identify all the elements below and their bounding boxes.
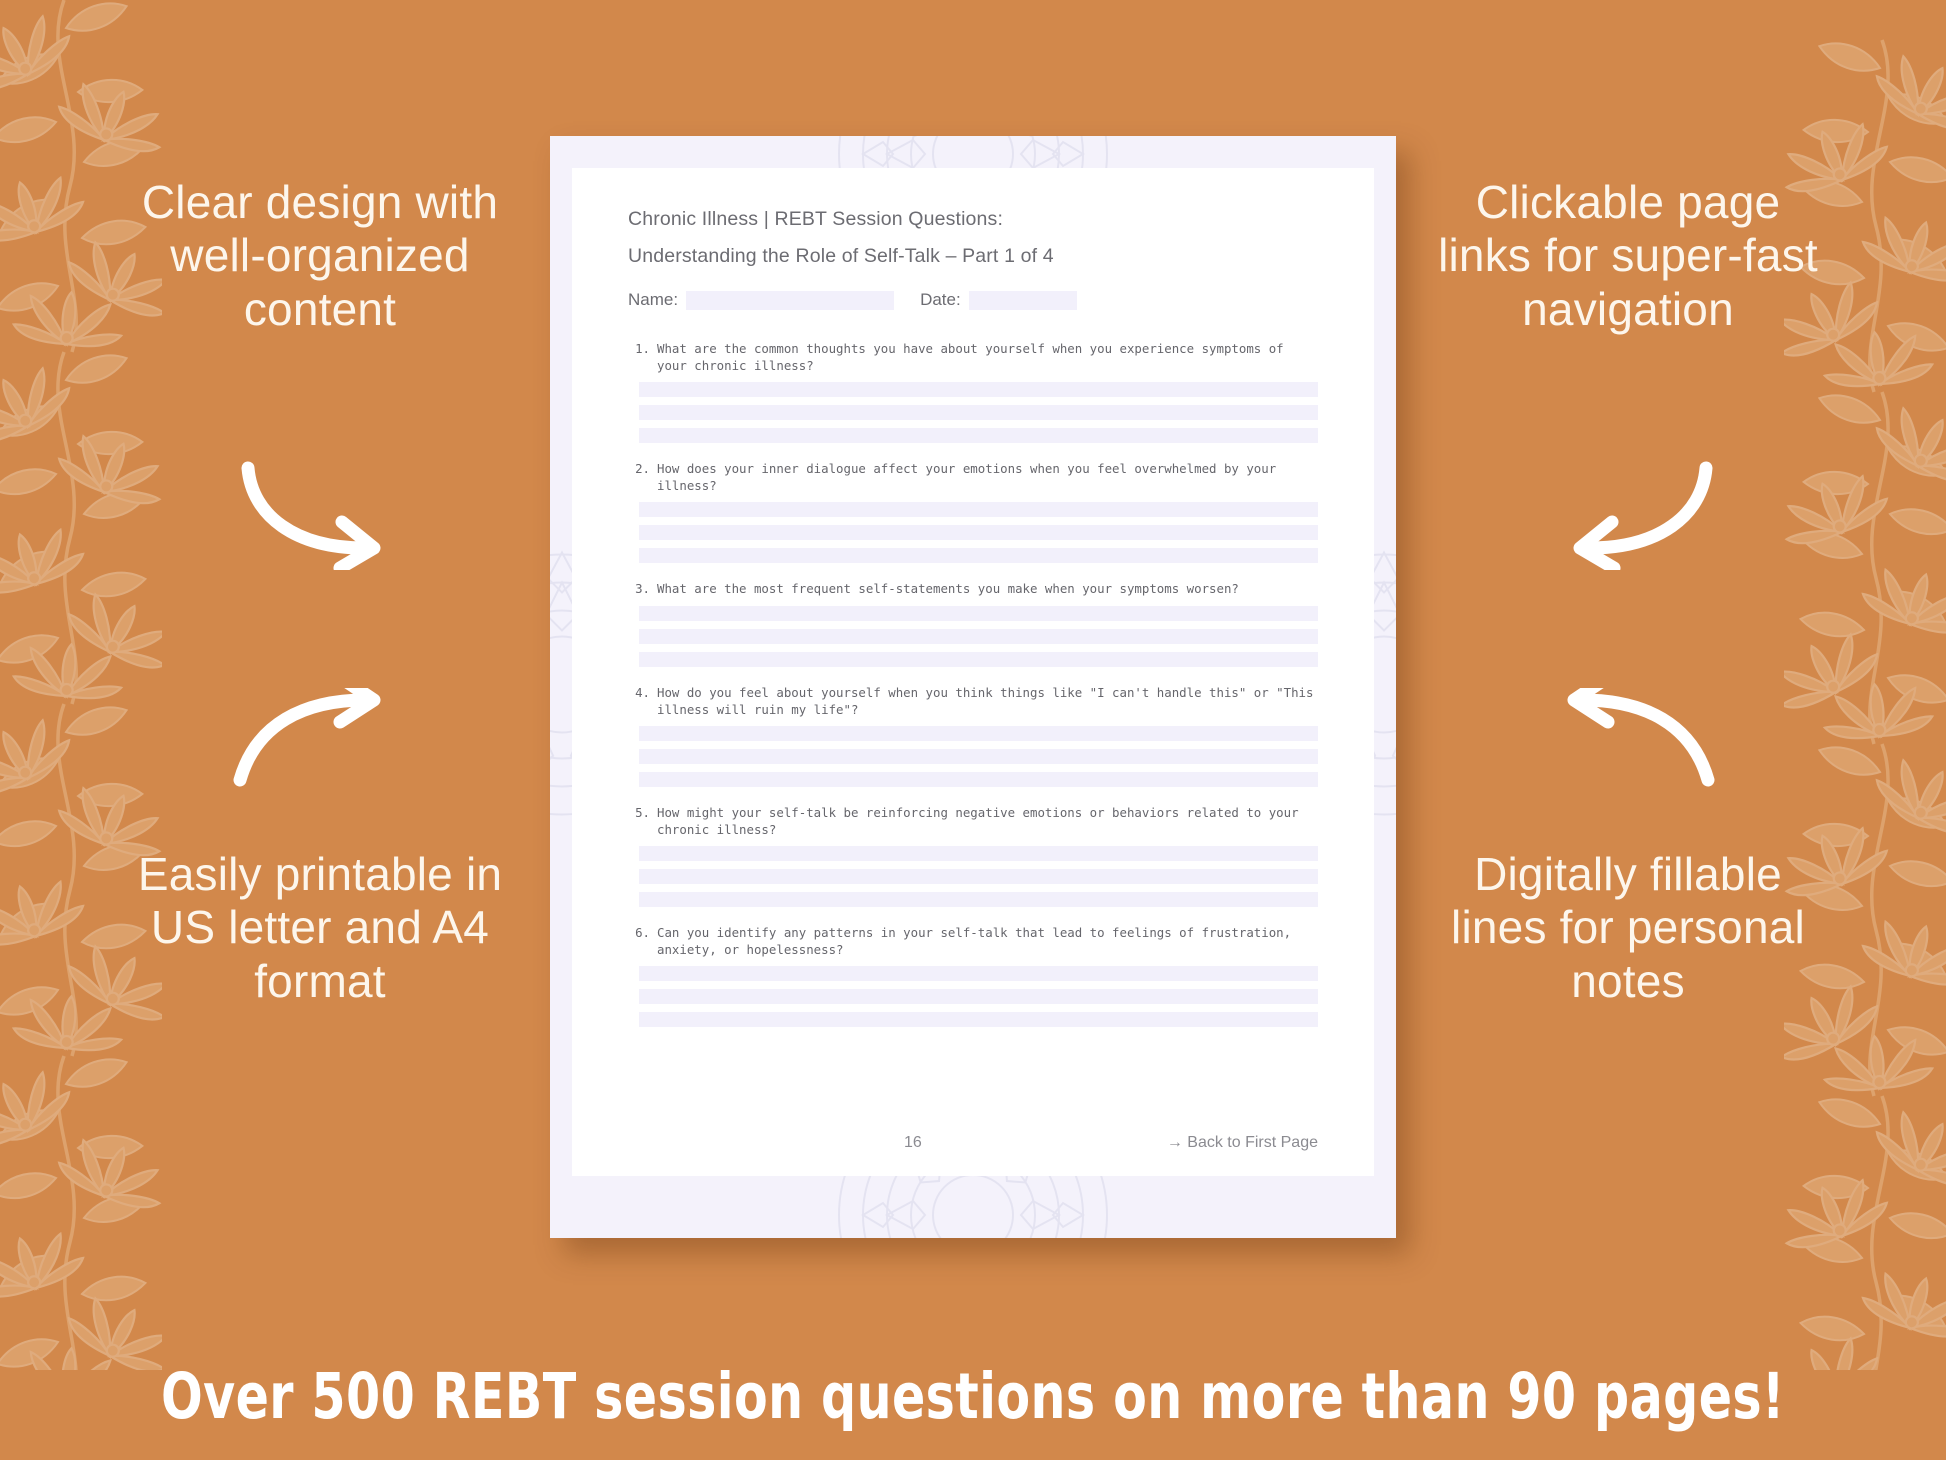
question-block: 6.Can you identify any patterns in your … (628, 924, 1318, 1027)
question-number: 3. (628, 580, 650, 597)
answer-line-input[interactable] (639, 869, 1318, 884)
answer-lines (639, 846, 1318, 907)
promo-banner-text: Over 500 REBT session questions on more … (161, 1360, 1785, 1433)
answer-line-input[interactable] (639, 502, 1318, 517)
answer-lines (639, 726, 1318, 787)
answer-line-input[interactable] (639, 405, 1318, 420)
name-input[interactable] (686, 291, 894, 310)
answer-line-input[interactable] (639, 966, 1318, 981)
page-footer: 16 → Back to First Page (628, 1134, 1318, 1152)
page-number: 16 (904, 1134, 922, 1152)
page-surface: Chronic Illness | REBT Session Questions… (550, 136, 1396, 1238)
question-number: 2. (628, 460, 650, 494)
question-number: 6. (628, 924, 650, 958)
question-row: 4.How do you feel about yourself when yo… (628, 684, 1318, 718)
promo-banner: Over 500 REBT session questions on more … (0, 1332, 1946, 1460)
question-block: 3.What are the most frequent self-statem… (628, 580, 1318, 666)
questions-list: 1.What are the common thoughts you have … (628, 340, 1318, 1027)
answer-line-input[interactable] (639, 749, 1318, 764)
question-row: 3.What are the most frequent self-statem… (628, 580, 1318, 597)
question-number: 1. (628, 340, 650, 374)
question-block: 2.How does your inner dialogue affect yo… (628, 460, 1318, 563)
answer-line-input[interactable] (639, 548, 1318, 563)
answer-line-input[interactable] (639, 428, 1318, 443)
question-number: 4. (628, 684, 650, 718)
question-row: 1.What are the common thoughts you have … (628, 340, 1318, 374)
question-text: How does your inner dialogue affect your… (657, 460, 1318, 494)
curved-arrow-right-icon (238, 460, 408, 575)
promo-text-printable: Easily printable in US letter and A4 for… (120, 848, 520, 1008)
date-input[interactable] (969, 291, 1077, 310)
question-text: Can you identify any patterns in your se… (657, 924, 1318, 958)
promo-text-clickable-links: Clickable page links for super-fast navi… (1428, 176, 1828, 336)
promo-text-fillable-lines: Digitally fillable lines for personal no… (1428, 848, 1828, 1008)
worksheet-title-line-2: Understanding the Role of Self-Talk – Pa… (628, 245, 1318, 268)
curved-arrow-left-up-icon (1546, 688, 1718, 793)
question-row: 2.How does your inner dialogue affect yo… (628, 460, 1318, 494)
question-text: How might your self-talk be reinforcing … (657, 804, 1318, 838)
answer-line-input[interactable] (639, 989, 1318, 1004)
answer-lines (639, 606, 1318, 667)
answer-line-input[interactable] (639, 652, 1318, 667)
answer-line-input[interactable] (639, 629, 1318, 644)
curved-arrow-right-up-icon (230, 688, 402, 793)
worksheet-page[interactable]: Chronic Illness | REBT Session Questions… (550, 136, 1396, 1238)
answer-lines (639, 502, 1318, 563)
worksheet-content: Chronic Illness | REBT Session Questions… (572, 168, 1374, 1176)
question-row: 6.Can you identify any patterns in your … (628, 924, 1318, 958)
curved-arrow-left-icon (1546, 460, 1716, 575)
question-text: How do you feel about yourself when you … (657, 684, 1318, 718)
answer-line-input[interactable] (639, 606, 1318, 621)
date-label: Date: (920, 290, 961, 310)
question-block: 5.How might your self-talk be reinforcin… (628, 804, 1318, 907)
question-number: 5. (628, 804, 650, 838)
name-date-row: Name: Date: (628, 290, 1318, 310)
promo-text-clear-design: Clear design with well-organized content (120, 176, 520, 336)
question-text: What are the common thoughts you have ab… (657, 340, 1318, 374)
answer-line-input[interactable] (639, 525, 1318, 540)
answer-line-input[interactable] (639, 846, 1318, 861)
question-row: 5.How might your self-talk be reinforcin… (628, 804, 1318, 838)
answer-line-input[interactable] (639, 1012, 1318, 1027)
question-text: What are the most frequent self-statemen… (657, 580, 1318, 597)
answer-line-input[interactable] (639, 382, 1318, 397)
answer-lines (639, 966, 1318, 1027)
answer-line-input[interactable] (639, 892, 1318, 907)
worksheet-title-line-1: Chronic Illness | REBT Session Questions… (628, 208, 1318, 231)
answer-lines (639, 382, 1318, 443)
answer-line-input[interactable] (639, 726, 1318, 741)
question-block: 1.What are the common thoughts you have … (628, 340, 1318, 443)
name-label: Name: (628, 290, 678, 310)
back-to-first-page-link[interactable]: → Back to First Page (1167, 1134, 1318, 1152)
answer-line-input[interactable] (639, 772, 1318, 787)
question-block: 4.How do you feel about yourself when yo… (628, 684, 1318, 787)
